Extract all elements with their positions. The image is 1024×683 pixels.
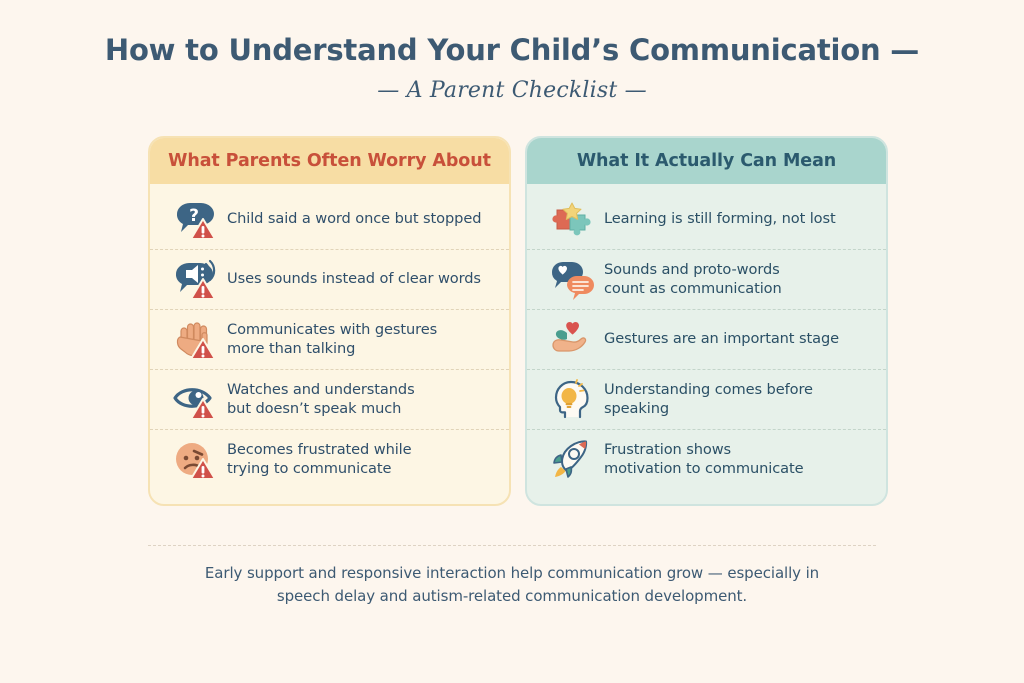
speech-bubble-question-icon: ? bbox=[172, 197, 218, 243]
list-item[interactable]: Frustration showsmotivation to communica… bbox=[527, 430, 886, 490]
svg-text:?: ? bbox=[189, 206, 199, 226]
raised-hand-icon bbox=[172, 317, 218, 363]
list-item[interactable]: ? Child said a word once but stopped bbox=[150, 190, 509, 250]
meaning-card-header: What It Actually Can Mean bbox=[527, 138, 886, 184]
footer-line-2: speech delay and autism-related communic… bbox=[0, 585, 1024, 608]
rocket-icon bbox=[549, 437, 595, 483]
list-item[interactable]: Watches and understandsbut doesn’t speak… bbox=[150, 370, 509, 430]
meaning-card: What It Actually Can Mean Learning bbox=[525, 136, 888, 506]
list-item-label: Uses sounds instead of clear words bbox=[227, 270, 481, 289]
list-item-label: Learning is still forming, not lost bbox=[604, 210, 836, 229]
infographic-page: How to Understand Your Child’s Communica… bbox=[0, 0, 1024, 683]
list-item[interactable]: Sounds and proto-wordscount as communica… bbox=[527, 250, 886, 310]
list-item-label: Gestures are an important stage bbox=[604, 330, 839, 349]
puzzle-pieces-icon bbox=[549, 197, 595, 243]
meaning-card-body: Learning is still forming, not lost bbox=[527, 184, 886, 504]
list-item-label: Child said a word once but stopped bbox=[227, 210, 481, 229]
list-item-label: Frustration showsmotivation to communica… bbox=[604, 441, 804, 478]
list-item-label: Communicates with gesturesmore than talk… bbox=[227, 321, 437, 358]
footer-divider bbox=[148, 545, 876, 546]
page-title: How to Understand Your Child’s Communica… bbox=[0, 34, 1024, 67]
checklist-columns: What Parents Often Worry About ? Child s… bbox=[0, 136, 888, 506]
list-item-label: Understanding comes before speaking bbox=[604, 381, 870, 418]
list-item[interactable]: Understanding comes before speaking bbox=[527, 370, 886, 430]
page-subtitle: — A Parent Checklist — bbox=[0, 78, 1024, 103]
worry-card-header: What Parents Often Worry About bbox=[150, 138, 509, 184]
eye-icon bbox=[172, 377, 218, 423]
list-item-label: Becomes frustrated whiletrying to commun… bbox=[227, 441, 412, 478]
list-item-label: Sounds and proto-wordscount as communica… bbox=[604, 261, 782, 298]
speech-bubble-sound-icon bbox=[172, 257, 218, 303]
title-block: How to Understand Your Child’s Communica… bbox=[0, 0, 1024, 103]
list-item[interactable]: Gestures are an important stage bbox=[527, 310, 886, 370]
worry-card-body: ? Child said a word once but stopped bbox=[150, 184, 509, 504]
heart-chat-bubbles-icon bbox=[549, 257, 595, 303]
hand-heart-icon bbox=[549, 317, 595, 363]
footer-note: Early support and responsive interaction… bbox=[0, 562, 1024, 609]
frustrated-face-icon bbox=[172, 437, 218, 483]
list-item[interactable]: Learning is still forming, not lost bbox=[527, 190, 886, 250]
list-item[interactable]: Communicates with gesturesmore than talk… bbox=[150, 310, 509, 370]
worry-card: What Parents Often Worry About ? Child s… bbox=[148, 136, 511, 506]
head-lightbulb-icon bbox=[549, 377, 595, 423]
list-item[interactable]: Uses sounds instead of clear words bbox=[150, 250, 509, 310]
footer-line-1: Early support and responsive interaction… bbox=[0, 562, 1024, 585]
list-item[interactable]: Becomes frustrated whiletrying to commun… bbox=[150, 430, 509, 490]
list-item-label: Watches and understandsbut doesn’t speak… bbox=[227, 381, 415, 418]
